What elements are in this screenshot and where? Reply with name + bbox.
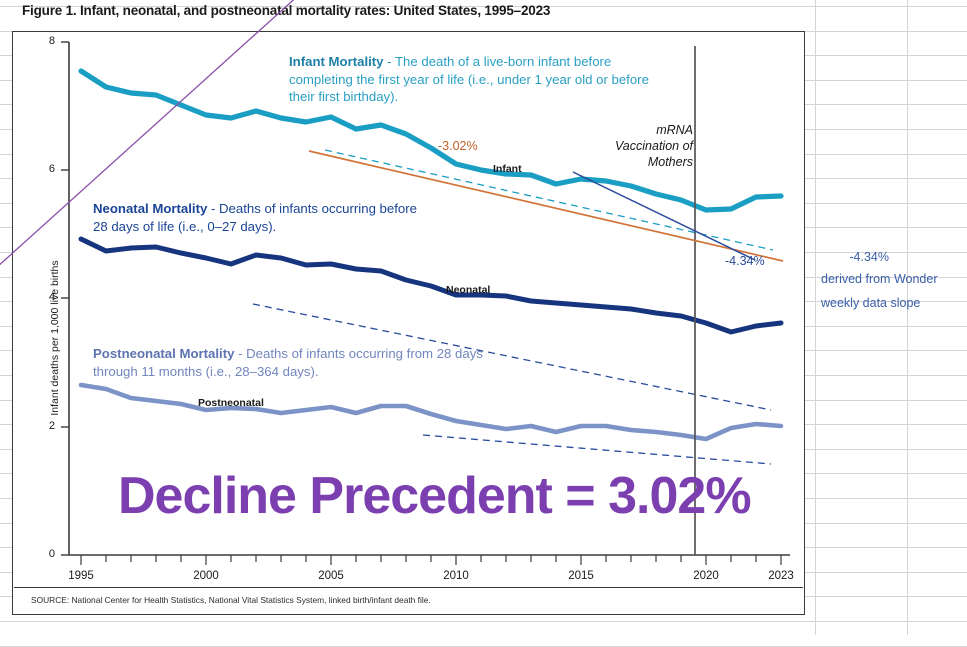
annotation-infant-mortality: Infant Mortality - The death of a live-b… (289, 53, 659, 106)
x-tick-label-2015: 2015 (551, 570, 611, 582)
sheet-row-divider (0, 621, 967, 622)
sheet-column-divider (907, 0, 908, 635)
x-axis-ticks (81, 555, 781, 565)
annotation-postneonatal-title: Postneonatal Mortality (93, 346, 234, 361)
y-tick-label-4: 4 (29, 291, 55, 303)
label-precedent-slope-pct: -3.02% (438, 139, 478, 153)
wonder-slope-line-navy (573, 172, 755, 260)
x-tick-label-2005: 2005 (301, 570, 361, 582)
x-tick-label-2020: 2020 (676, 570, 736, 582)
y-axis-ticks (61, 42, 69, 555)
y-tick-label-0: 0 (29, 548, 55, 560)
series-line-postneonatal (81, 385, 781, 439)
series-line-neonatal (81, 239, 781, 332)
mrna-event-label: mRNA Vaccination of Mothers (603, 122, 693, 170)
annotation-neonatal-mortality: Neonatal Mortality - Deaths of infants o… (93, 200, 423, 235)
figure-panel: SOURCE: National Center for Health Stati… (12, 31, 805, 615)
cell-wonder-slope-value[interactable]: -4.34% (815, 250, 889, 264)
annotation-neonatal-title: Neonatal Mortality (93, 201, 207, 216)
postneonatal-trendline-dashed (423, 435, 771, 464)
mrna-label-line3: Mothers (603, 154, 693, 170)
x-tick-label-2023: 2023 (751, 570, 811, 582)
label-wonder-slope-pct: -4.34% (725, 254, 765, 268)
y-tick-label-6: 6 (29, 163, 55, 175)
sheet-column-divider (815, 0, 816, 635)
series-label-infant: Infant (493, 163, 522, 175)
figure-title: Figure 1. Infant, neonatal, and postneon… (22, 3, 550, 18)
series-label-postneonatal: Postneonatal (198, 397, 264, 409)
screenshot-root: -4.34% derived from Wonder weekly data s… (0, 0, 967, 635)
series-label-neonatal: Neonatal (446, 284, 490, 296)
x-tick-label-2010: 2010 (426, 570, 486, 582)
annotation-postneonatal-mortality: Postneonatal Mortality - Deaths of infan… (93, 345, 513, 380)
x-tick-label-2000: 2000 (176, 570, 236, 582)
chart-canvas (13, 32, 806, 616)
mrna-label-line1: mRNA (603, 122, 693, 138)
x-tick-label-1995: 1995 (51, 570, 111, 582)
mrna-label-line2: Vaccination of (603, 138, 693, 154)
y-tick-label-2: 2 (29, 420, 55, 432)
y-tick-label-8: 8 (29, 35, 55, 47)
headline-decline-precedent: Decline Precedent = 3.02% (118, 466, 751, 526)
cell-wonder-note-line1[interactable]: derived from Wonder (821, 272, 938, 286)
cell-wonder-note-line2[interactable]: weekly data slope (821, 296, 920, 310)
annotation-infant-title: Infant Mortality (289, 54, 384, 69)
